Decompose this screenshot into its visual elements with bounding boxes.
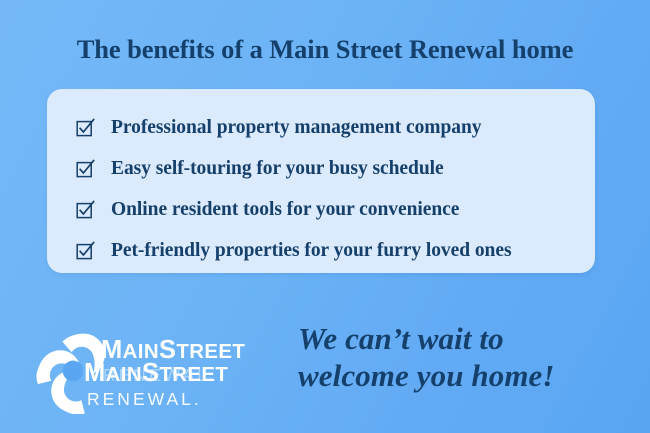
list-item: Online resident tools for your convenien…: [76, 190, 581, 230]
logo-wordmark-s: S: [159, 336, 176, 364]
checkbox-checked-icon: [76, 119, 94, 137]
logo-wordmark-treet: TREET: [176, 341, 245, 363]
logo-wordmark-primary: MAINSTREET: [101, 338, 245, 364]
benefit-label: Easy self-touring for your busy schedule: [111, 158, 444, 180]
benefit-label: Pet-friendly properties for your furry l…: [111, 240, 512, 262]
logo-wordmark-m: M: [84, 359, 106, 387]
tagline-line-2: welcome you home!: [298, 357, 555, 394]
benefits-list: Professional property management company…: [76, 108, 581, 272]
logo-wordmark-ain: AIN: [106, 364, 142, 386]
list-item: Professional property management company: [76, 108, 581, 148]
logo-subword-period: .: [194, 389, 202, 409]
list-item: Pet-friendly properties for your furry l…: [76, 231, 581, 271]
benefit-label: Professional property management company: [111, 117, 481, 139]
logo-wordmark-treet: TREET: [159, 364, 228, 386]
brand-logo: MAINSTREET RENEWAL MAINSTREET RENEWAL.: [30, 325, 290, 425]
tagline: We can’t wait to welcome you home!: [298, 320, 555, 394]
checkbox-checked-icon: [76, 160, 94, 178]
footer: MAINSTREET RENEWAL MAINSTREET RENEWAL. W…: [0, 300, 650, 433]
checkbox-checked-icon: [76, 242, 94, 260]
page-title: The benefits of a Main Street Renewal ho…: [0, 34, 650, 65]
benefits-card: Professional property management company…: [47, 89, 595, 273]
logo-wordmark-secondary: MAINSTREET: [84, 361, 228, 387]
tagline-line-1: We can’t wait to: [298, 320, 555, 357]
logo-wordmark-s: S: [142, 359, 159, 387]
checkbox-checked-icon: [76, 201, 94, 219]
logo-subword-text: RENEWAL: [87, 389, 194, 409]
promo-card: The benefits of a Main Street Renewal ho…: [0, 0, 650, 433]
list-item: Easy self-touring for your busy schedule: [76, 149, 581, 189]
benefit-label: Online resident tools for your convenien…: [111, 199, 459, 221]
logo-subword: RENEWAL.: [87, 391, 202, 409]
